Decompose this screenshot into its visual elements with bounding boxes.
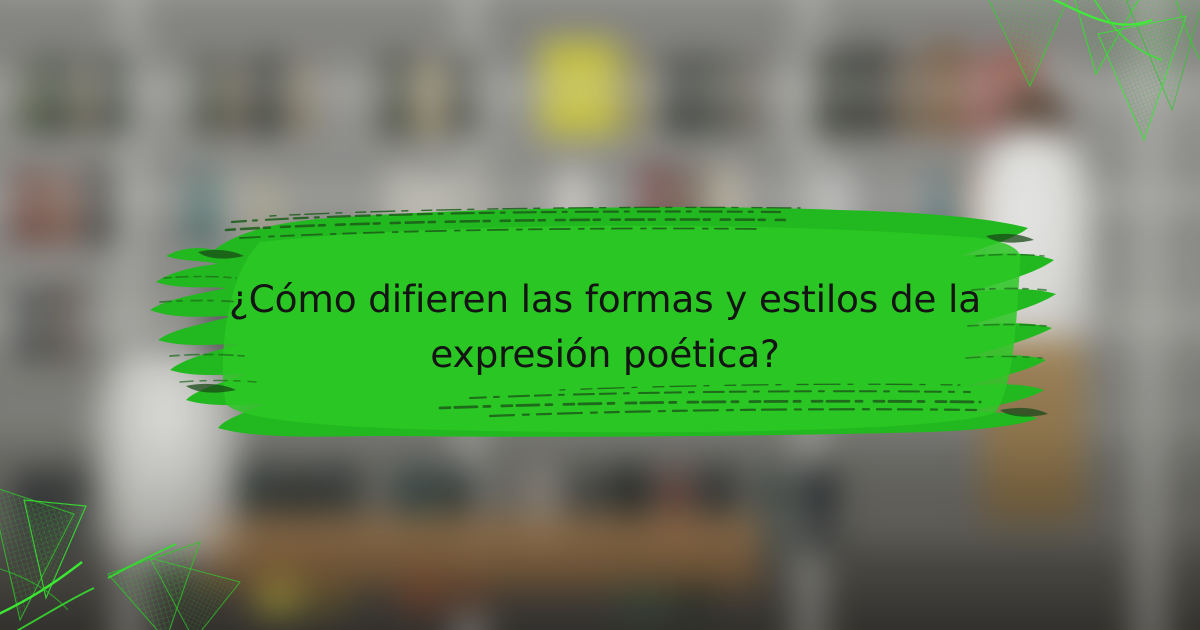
wood-floor xyxy=(200,516,760,590)
poster-canvas: ¿Cómo difieren las formas y estilos de l… xyxy=(0,0,1200,630)
page-title: ¿Cómo difieren las formas y estilos de l… xyxy=(200,272,1010,382)
